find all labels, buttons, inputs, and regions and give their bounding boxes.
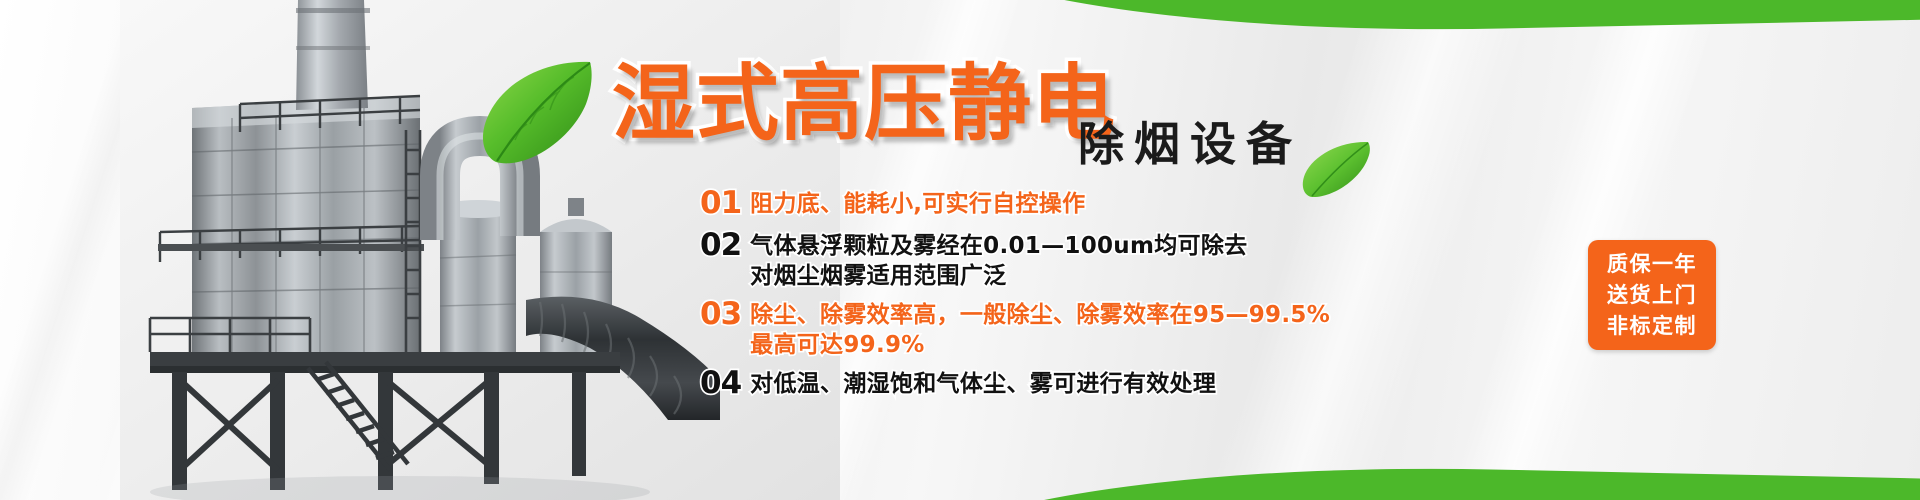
feature-number: 01 — [700, 186, 741, 220]
list-item: 03 除尘、除雾效率高，一般除尘、除雾效率在95—99.5% 最高可达99.9% — [700, 297, 1580, 360]
feature-text: 对低温、潮湿饱和气体尘、雾可进行有效处理 — [750, 366, 1216, 399]
feature-list: 01 阻力底、能耗小,可实行自控操作 02 气体悬浮颗粒及雾经在0.01—100… — [700, 186, 1580, 402]
feature-text: 阻力底、能耗小,可实行自控操作 — [750, 186, 1085, 219]
guarantee-badge: 质保一年 送货上门 非标定制 — [1588, 240, 1716, 350]
badge-line-custom: 非标定制 — [1607, 311, 1697, 342]
list-item: 04 对低温、潮湿饱和气体尘、雾可进行有效处理 — [700, 366, 1580, 400]
badge-line-delivery: 送货上门 — [1607, 280, 1697, 311]
promo-banner: 湿式高压静电 除烟设备 01 阻力底、能耗小,可实行自控操作 02 气体悬浮颗粒… — [0, 0, 1920, 500]
feature-text: 除尘、除雾效率高，一般除尘、除雾效率在95—99.5% 最高可达99.9% — [750, 297, 1330, 360]
feature-number: 04 — [700, 366, 741, 400]
feature-text: 气体悬浮颗粒及雾经在0.01—100um均可除去 对烟尘烟雾适用范围广泛 — [750, 228, 1247, 291]
leaf-icon — [478, 58, 598, 166]
list-item: 02 气体悬浮颗粒及雾经在0.01—100um均可除去 对烟尘烟雾适用范围广泛 — [700, 228, 1580, 291]
list-item: 01 阻力底、能耗小,可实行自控操作 — [700, 186, 1580, 220]
green-top-shape — [899, 0, 1920, 41]
page-subtitle: 除烟设备 — [1078, 108, 1302, 174]
badge-line-warranty: 质保一年 — [1607, 249, 1697, 280]
green-bottom-shape — [889, 457, 1920, 500]
feature-number: 03 — [700, 297, 741, 331]
feature-number: 02 — [700, 228, 741, 262]
